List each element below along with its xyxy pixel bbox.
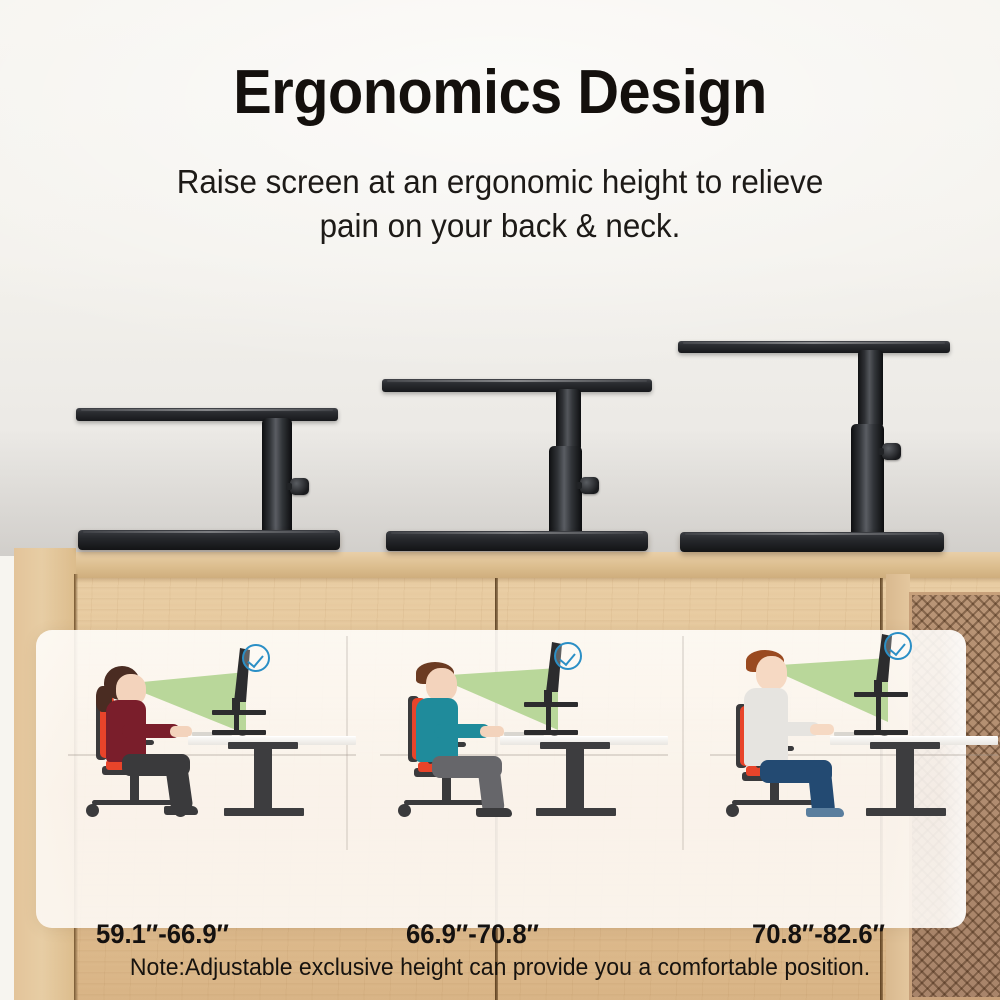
panel-divider-2 [682, 636, 684, 850]
height-label-3-inches: 70.8″-82.6″ [752, 918, 885, 951]
chair-wheel-left [726, 804, 739, 817]
chair-wheel-base [732, 800, 820, 805]
monitor-riser-base [524, 730, 578, 735]
scene-tall-person [702, 642, 1000, 854]
desk-foot [224, 808, 304, 816]
footer-note: Note:Adjustable exclusive height can pro… [20, 954, 980, 982]
stand-medium-inner-tube [556, 389, 581, 451]
desk-leg [896, 744, 914, 810]
check-icon [242, 644, 270, 672]
chair-wheel-left [86, 804, 99, 817]
subtitle-line-1: Raise screen at an ergonomic height to r… [82, 160, 918, 204]
desk-leg [566, 744, 584, 810]
desk-leg-top-flange [870, 742, 940, 749]
base-highlight [685, 533, 938, 535]
stand-high-base [680, 532, 944, 552]
stand-medium-shelf [382, 379, 652, 392]
desk-leg [254, 744, 272, 810]
base-highlight [391, 532, 643, 534]
cabinet-top-surface [14, 552, 1000, 578]
person-shoe [806, 808, 844, 817]
stand-low-base [78, 530, 340, 550]
chair-wheel-left [398, 804, 411, 817]
desk-leg-top-flange [228, 742, 298, 749]
stand-low-adjust-knob[interactable] [290, 478, 309, 495]
desk-leg-top-flange [540, 742, 610, 749]
desk-foot [866, 808, 946, 816]
check-icon [554, 642, 582, 670]
monitor-riser-column [876, 696, 881, 732]
stand-high-shelf [678, 341, 950, 353]
stand-high-inner-tube [858, 350, 883, 428]
product-marketing-image: Ergonomics Design Raise screen at an erg… [0, 0, 1000, 1000]
page-subtitle: Raise screen at an ergonomic height to r… [82, 160, 918, 247]
chair-wheel-base [92, 800, 180, 805]
scene-short-person [60, 642, 360, 854]
desk-foot [536, 808, 616, 816]
monitor-riser-column [234, 714, 239, 732]
stand-medium-base [386, 531, 648, 551]
monitor-riser-column [546, 706, 551, 732]
height-label-2-inches: 66.9″-70.8″ [406, 918, 539, 951]
subtitle-line-2: pain on your back & neck. [82, 204, 918, 248]
chair-wheel-base [404, 800, 492, 805]
stand-low-shelf [76, 408, 338, 421]
monitor-riser-base [212, 730, 266, 735]
shelf-highlight [387, 380, 646, 382]
stand-medium-adjust-knob[interactable] [580, 477, 599, 494]
scene-medium-person [372, 642, 672, 854]
person-shoe [476, 808, 512, 817]
check-icon [884, 632, 912, 660]
base-highlight [83, 531, 335, 533]
page-title: Ergonomics Design [35, 62, 965, 124]
stand-medium-outer-tube [549, 446, 582, 541]
shelf-highlight [81, 409, 333, 411]
stand-high-outer-tube [851, 424, 884, 542]
person-shoe [164, 806, 198, 815]
height-label-1-inches: 59.1″-66.9″ [96, 918, 229, 951]
shelf-highlight [683, 342, 944, 344]
stand-low-column [262, 418, 292, 538]
monitor-riser-base [854, 730, 908, 735]
person-hand [810, 724, 834, 735]
person-head [426, 668, 457, 701]
person-head [756, 656, 787, 690]
stand-high-adjust-knob[interactable] [882, 443, 901, 460]
